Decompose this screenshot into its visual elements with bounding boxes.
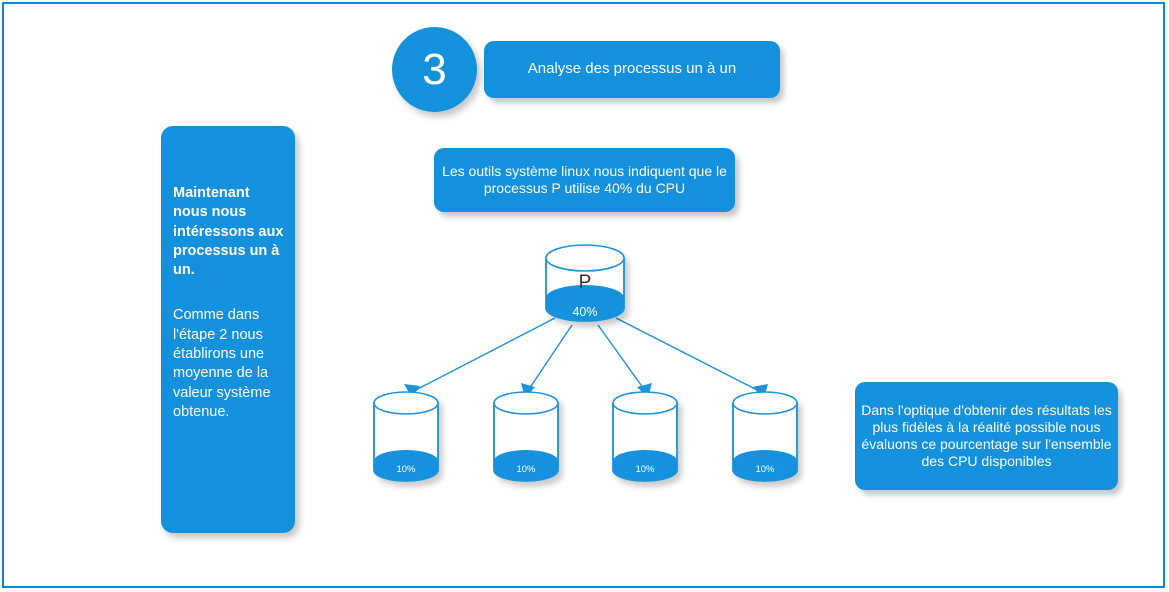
cylinder-child-1-top	[374, 392, 438, 414]
arrow-to-cylinder-2	[521, 325, 572, 398]
cylinder-child-4-top	[733, 392, 797, 414]
callout-cpu-usage: Les outils système linux nous indiquent …	[434, 148, 735, 212]
cylinder-main-top	[546, 245, 624, 271]
cylinder-child-4-percent: 10%	[730, 464, 800, 475]
arrow-to-cylinder-4	[616, 318, 768, 398]
cylinder-child-3-percent: 10%	[610, 464, 680, 475]
callout-cpu-usage-text: Les outils système linux nous indiquent …	[440, 163, 729, 197]
slide-canvas: 3 Analyse des processus un à un Maintena…	[0, 0, 1169, 592]
callout-cpu-availability-text: Dans l'optique d'obtenir des résultats l…	[860, 402, 1113, 470]
arrow-to-cylinder-3	[598, 325, 652, 398]
cylinder-child-1-percent: 10%	[371, 464, 441, 475]
cylinder-main-percent: 40%	[545, 305, 625, 319]
left-panel-paragraph-bold: Maintenant nous nous intéressons aux pro…	[173, 184, 285, 280]
distribution-arrows	[404, 318, 768, 398]
cylinder-main-label: P	[545, 272, 625, 294]
slide-title-banner: Analyse des processus un à un	[484, 41, 780, 98]
left-panel-paragraph-regular: Comme dans l'étape 2 nous établirons une…	[173, 306, 285, 422]
cylinder-child-3-top	[613, 392, 677, 414]
step-number-badge: 3	[392, 27, 477, 112]
cylinder-child-2-percent: 10%	[491, 464, 561, 475]
slide-title-text: Analyse des processus un à un	[528, 60, 736, 78]
arrow-to-cylinder-1	[404, 318, 555, 398]
cylinder-child-2-top	[494, 392, 558, 414]
callout-cpu-availability: Dans l'optique d'obtenir des résultats l…	[855, 382, 1118, 490]
left-info-panel: Maintenant nous nous intéressons aux pro…	[161, 126, 295, 533]
